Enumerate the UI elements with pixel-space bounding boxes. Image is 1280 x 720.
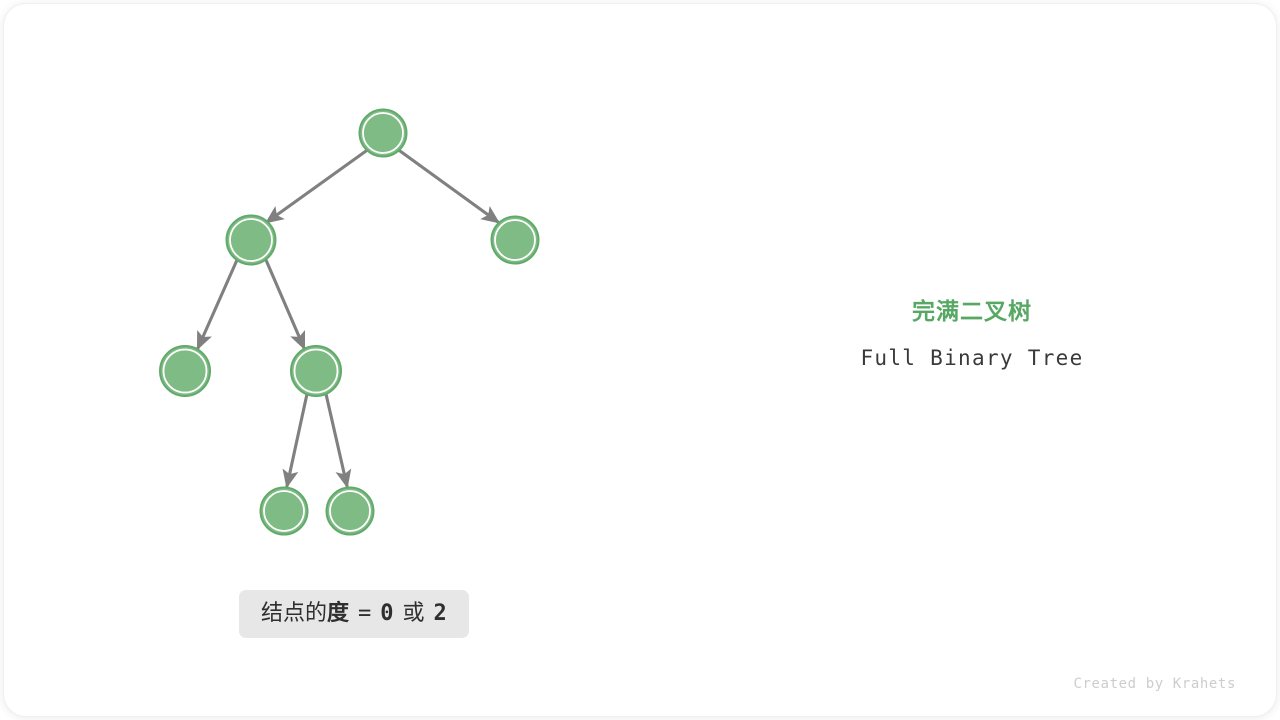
- tree-node-l3-right[interactable]: [327, 488, 374, 535]
- tree-nodes: [160, 110, 539, 535]
- tree-edges: [198, 151, 498, 486]
- caption-part-prefix: 结点的: [261, 590, 327, 638]
- legend-title-english: Full Binary Tree: [772, 345, 1172, 371]
- tree-node-l2-left[interactable]: [160, 346, 210, 396]
- legend-title-chinese: 完满二叉树: [772, 296, 1172, 326]
- credit-text: Created by Krahets: [1073, 676, 1236, 692]
- tree-node-l1[interactable]: [227, 216, 276, 265]
- caption-part-degree: 度: [327, 590, 349, 638]
- tree-node-root[interactable]: [360, 110, 407, 157]
- diagram-card: 完满二叉树 Full Binary Tree 结点的度=0或2 Created …: [4, 4, 1276, 716]
- tree-node-l3-left[interactable]: [261, 488, 308, 535]
- edge-root-to-right: [400, 151, 498, 222]
- tree-node-r1[interactable]: [492, 217, 539, 264]
- legend-block: 完满二叉树 Full Binary Tree: [772, 296, 1172, 371]
- edge-mid-to-leafleft: [287, 394, 307, 486]
- caption-part-equals: =: [358, 590, 371, 638]
- edge-left-to-leftleft: [198, 260, 237, 348]
- tree-node-l2-right[interactable]: [291, 346, 341, 396]
- edge-left-to-leftright: [266, 260, 304, 348]
- caption-part-zero: 0: [380, 590, 393, 638]
- edge-root-to-left: [267, 151, 366, 222]
- edge-mid-to-leafright: [326, 394, 347, 486]
- diagram-canvas: 完满二叉树 Full Binary Tree 结点的度=0或2 Created …: [0, 0, 1280, 720]
- caption-part-or: 或: [403, 590, 425, 638]
- caption-part-two: 2: [434, 590, 447, 638]
- degree-caption: 结点的度=0或2: [239, 590, 469, 638]
